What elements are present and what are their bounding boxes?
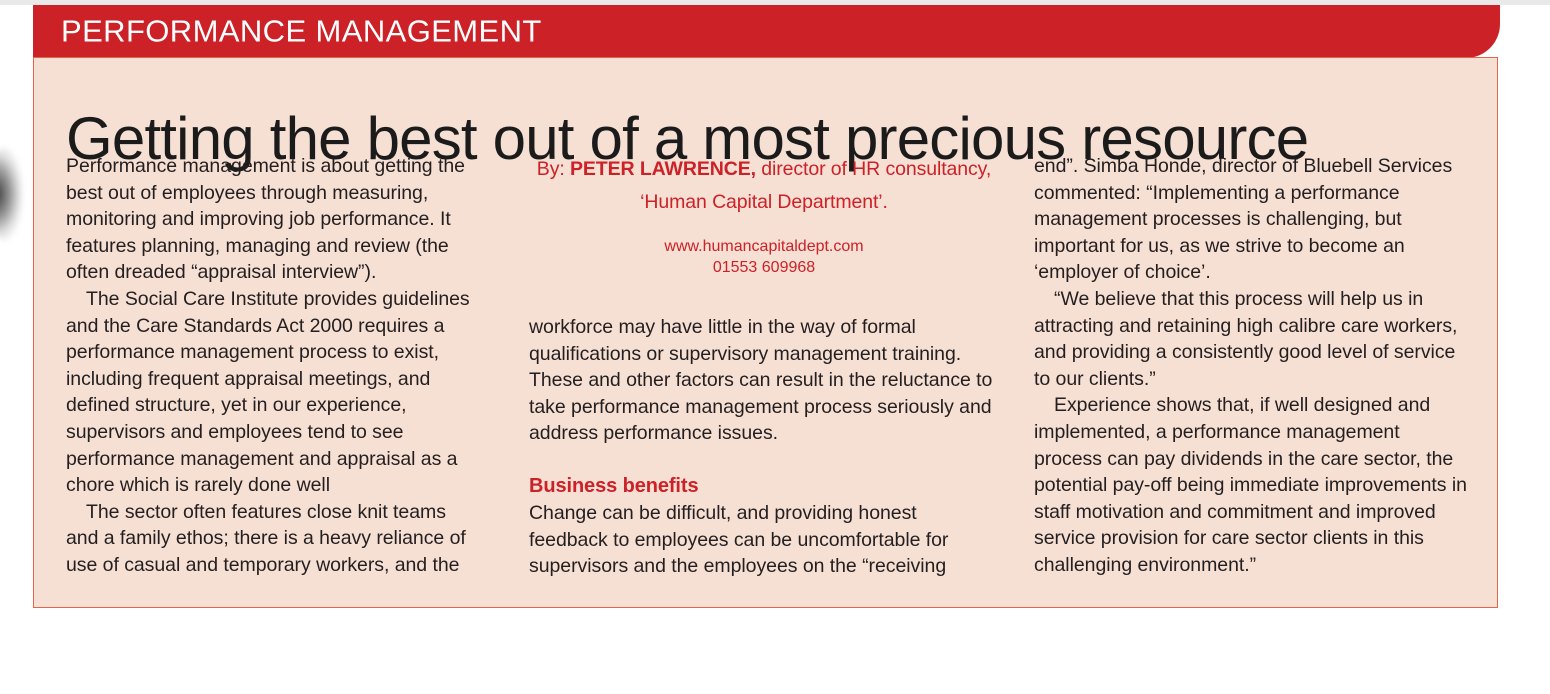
byline-website-link[interactable]: www.humancapitaldept.com <box>529 236 999 257</box>
byline-credit: By: PETER LAWRENCE, director of HR consu… <box>529 153 999 219</box>
paragraph: Performance management is about getting … <box>66 153 482 286</box>
subsection-heading: Business benefits <box>529 473 999 500</box>
column-left: Performance management is about getting … <box>66 153 529 603</box>
byline-author-name: PETER LAWRENCE, <box>570 158 756 180</box>
byline-spacer <box>529 278 1034 314</box>
article-columns: Performance management is about getting … <box>66 153 1498 603</box>
section-banner: PERFORMANCE MANAGEMENT <box>33 5 1500 58</box>
paragraph: Change can be difficult, and providing h… <box>529 500 999 580</box>
paragraph: Experience shows that, if well designed … <box>1034 392 1470 578</box>
article-card: PERFORMANCE MANAGEMENT Getting the best … <box>33 5 1500 610</box>
byline-prefix: By: <box>537 158 570 180</box>
section-banner-label: PERFORMANCE MANAGEMENT <box>61 13 542 49</box>
page-edge-shadow-artifact <box>0 148 22 240</box>
paragraph: “We believe that this process will help … <box>1034 286 1470 392</box>
byline-phone-number: 01553 609968 <box>529 257 999 278</box>
byline-block: By: PETER LAWRENCE, director of HR consu… <box>529 153 999 278</box>
paragraph: end”. Simba Honde, director of Bluebell … <box>1034 153 1470 286</box>
column-right: end”. Simba Honde, director of Bluebell … <box>1034 153 1498 603</box>
paragraph: The Social Care Institute provides guide… <box>66 286 482 499</box>
column-center: By: PETER LAWRENCE, director of HR consu… <box>529 153 1034 603</box>
paragraph: workforce may have little in the way of … <box>529 314 999 447</box>
paragraph: The sector often features close knit tea… <box>66 499 482 579</box>
